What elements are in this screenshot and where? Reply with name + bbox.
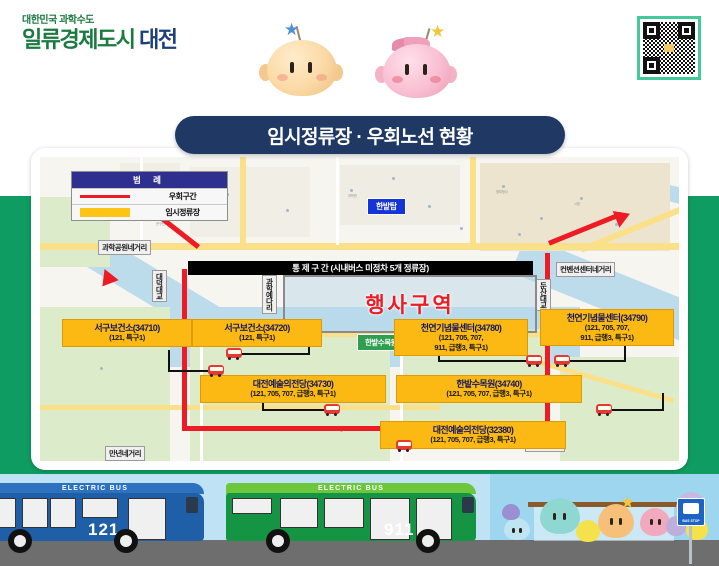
qr-logo — [664, 44, 674, 52]
mascot-body-2 — [383, 44, 451, 98]
stop-routes-line1: (121, 705, 707, — [401, 333, 521, 342]
leader-34710-h — [168, 370, 208, 372]
bus-marker-32380 — [396, 440, 412, 450]
stop-routes: (121, 특구1) — [199, 333, 315, 342]
qr-finder-tl — [643, 22, 660, 39]
stop-title: 천연기념물센터(34780) — [401, 323, 521, 333]
bus-marker-34740 — [596, 404, 612, 414]
mascot-cheek-right-2 — [430, 76, 441, 83]
stop-title: 서구보건소(34720) — [199, 323, 315, 333]
stop-seogu-health-center-34710[interactable]: 서구보건소(34710) (121, 특구1) — [62, 319, 192, 347]
stop-routes: (121, 705, 707, 급행3, 특구1) — [403, 389, 575, 398]
stop-seogu-health-center-34720[interactable]: 서구보건소(34720) (121, 특구1) — [192, 319, 322, 347]
stop-natural-monument-center-34790[interactable]: 천연기념물센터(34790) (121, 705, 707, 911, 급행3,… — [540, 309, 674, 346]
bus-window — [280, 498, 318, 528]
legend: 범 례 우회구간 임시정류장 — [71, 171, 228, 221]
landmark-hanbat-tower: 한밭탑 — [367, 198, 406, 215]
stop-routes: (121, 특구1) — [69, 333, 185, 342]
stop-routes-line2: 911, 급행3, 특구1) — [401, 343, 521, 352]
map-card: 과학관 정부청사 시청 연구단지 — [31, 148, 688, 470]
mascot-eye-right-2 — [423, 64, 427, 75]
intersection-mannyeon: 만년네거리 — [105, 446, 145, 461]
character-eye — [658, 519, 661, 525]
bus-window — [50, 498, 76, 528]
mascot-cheek-right — [316, 74, 327, 81]
leader-34740-h — [612, 409, 664, 411]
character-teal — [540, 498, 580, 534]
logo-title-part1: 일류경제도시 — [22, 27, 139, 52]
bus-stop-sign: BUS STOP — [676, 498, 706, 542]
stop-daejeon-arts-center-34730[interactable]: 대전예술의전당(34730) (121, 705, 707, 급행3, 특구1) — [200, 375, 386, 403]
stop-natural-monument-center-34780[interactable]: 천연기념물센터(34780) (121, 705, 707, 911, 급행3,… — [394, 319, 528, 356]
bus-green-number: 911 — [384, 520, 414, 540]
mascot-eye-right — [308, 62, 312, 73]
character-eye — [619, 518, 622, 525]
stop-title: 서구보건소(34710) — [69, 323, 185, 333]
stop-title: 천연기념물센터(34790) — [547, 313, 667, 323]
bottom-illustration: ELECTRIC BUS 121 ELECTRIC BUS 911 — [0, 474, 719, 566]
legend-swatch-detour — [72, 195, 138, 198]
bus-green-911: ELECTRIC BUS 911 — [226, 483, 476, 549]
stop-routes: (121, 705, 707, 급행3, 특구1) — [207, 389, 379, 398]
legend-row-temp-stop: 임시정류장 — [72, 204, 227, 220]
page-title: 임시정류장 · 우회노선 현황 — [175, 116, 565, 154]
character-pink — [640, 508, 670, 536]
logo-subtitle: 대한민국 과학수도 — [22, 16, 177, 26]
bus-window — [324, 498, 364, 528]
character-yellow — [576, 520, 600, 542]
mascot-star-icon: ★ — [284, 21, 299, 38]
logo-title: 일류경제도시 대전 — [22, 28, 177, 53]
charging-plug-icon-2 — [462, 497, 474, 513]
stop-routes: (121, 705, 707, 급행3, 특구1) — [387, 435, 559, 444]
character-eye — [563, 513, 566, 520]
charging-plug-icon — [186, 497, 198, 513]
mascot-cheek-left — [277, 74, 288, 81]
legend-row-detour: 우회구간 — [72, 188, 227, 204]
legend-label-temp-stop: 임시정류장 — [138, 207, 227, 218]
bus-marker-34790 — [554, 355, 570, 365]
character-purple-small — [502, 504, 520, 520]
qr-finder-tr — [678, 22, 695, 39]
character-eye — [610, 518, 613, 525]
mascot-cheek-left-2 — [392, 76, 403, 83]
mascot-yellow: ★ — [262, 24, 342, 96]
stop-routes-line1: (121, 705, 707, — [547, 323, 667, 332]
legend-heading: 범 례 — [72, 172, 227, 188]
mascot-eye-left — [290, 62, 294, 73]
bus-wheel — [266, 529, 290, 553]
stop-hanbat-arboretum-34740[interactable]: 한밭수목원(34740) (121, 705, 707, 급행3, 특구1) — [396, 375, 582, 403]
bridge-gwahakyae: 과학예다리 — [262, 275, 277, 314]
intersection-convention-center: 컨벤션센터네거리 — [556, 262, 615, 277]
bus-blue-121: ELECTRIC BUS 121 — [0, 483, 204, 549]
bus-icon — [683, 503, 699, 514]
bus-wheel — [114, 529, 138, 553]
leader-34720-h — [240, 353, 310, 355]
bus-window — [0, 498, 16, 528]
stop-title: 한밭수목원(34740) — [403, 379, 575, 389]
bus-wheel — [8, 529, 32, 553]
character-eye — [519, 528, 522, 533]
bridge-daedeok: 대덕대교 — [152, 270, 167, 302]
leader-34730-h — [262, 409, 324, 411]
bridge-dunsan: 둔산대교 — [536, 279, 551, 311]
route-map[interactable]: 과학관 정부청사 시청 연구단지 — [40, 157, 679, 461]
legend-label-detour: 우회구간 — [138, 191, 227, 202]
bus-marker-34780 — [526, 355, 542, 365]
stop-title: 대전예술의전당(34730) — [207, 379, 379, 389]
leader-34710 — [168, 350, 170, 372]
mascot-body — [267, 40, 337, 96]
bus-stop-pole — [689, 524, 692, 564]
stop-title: 대전예술의전당(32380) — [387, 425, 559, 435]
mascot-eye-left-2 — [405, 64, 409, 75]
leader-34790-h — [568, 360, 626, 362]
character-eye — [650, 519, 653, 525]
intersection-gwahakgongwon: 과학공원네거리 — [98, 240, 151, 255]
bus-window — [232, 498, 272, 514]
bus-marker-34730 — [324, 404, 340, 414]
poster-root: 대한민국 과학수도 일류경제도시 대전 ★ ★ — [0, 0, 719, 566]
city-logo: 대한민국 과학수도 일류경제도시 대전 — [22, 16, 177, 53]
bus-stop-text: BUS STOP — [678, 519, 704, 523]
event-zone-label: 행사구역 — [365, 289, 454, 319]
stop-routes-line2: 911, 급행3, 특구1) — [547, 333, 667, 342]
bus-marker-34720 — [226, 348, 242, 358]
bus-stop-plate: BUS STOP — [677, 498, 705, 526]
scene-star-icon: ★ — [620, 494, 635, 511]
bus-window — [82, 498, 118, 518]
bus-window — [22, 498, 48, 528]
bus-marker-34710 — [208, 365, 224, 375]
mascot-pink: ★ — [378, 28, 458, 98]
leader-34740-v — [662, 393, 664, 410]
bus-wheel — [416, 529, 440, 553]
character-eye — [553, 513, 556, 520]
character-blue-small — [504, 518, 530, 540]
character-eye — [512, 528, 515, 533]
qr-code[interactable] — [637, 16, 701, 80]
legend-swatch-temp-stop — [72, 208, 138, 217]
qr-pattern — [643, 22, 695, 74]
leader-34780-h — [438, 360, 528, 362]
qr-finder-bl — [643, 57, 660, 74]
mascot-star-icon-2: ★ — [430, 23, 445, 40]
logo-title-part2: 대전 — [139, 27, 176, 52]
control-section-banner: 통 제 구 간 (시내버스 미정차 5개 정류장) — [188, 261, 533, 275]
